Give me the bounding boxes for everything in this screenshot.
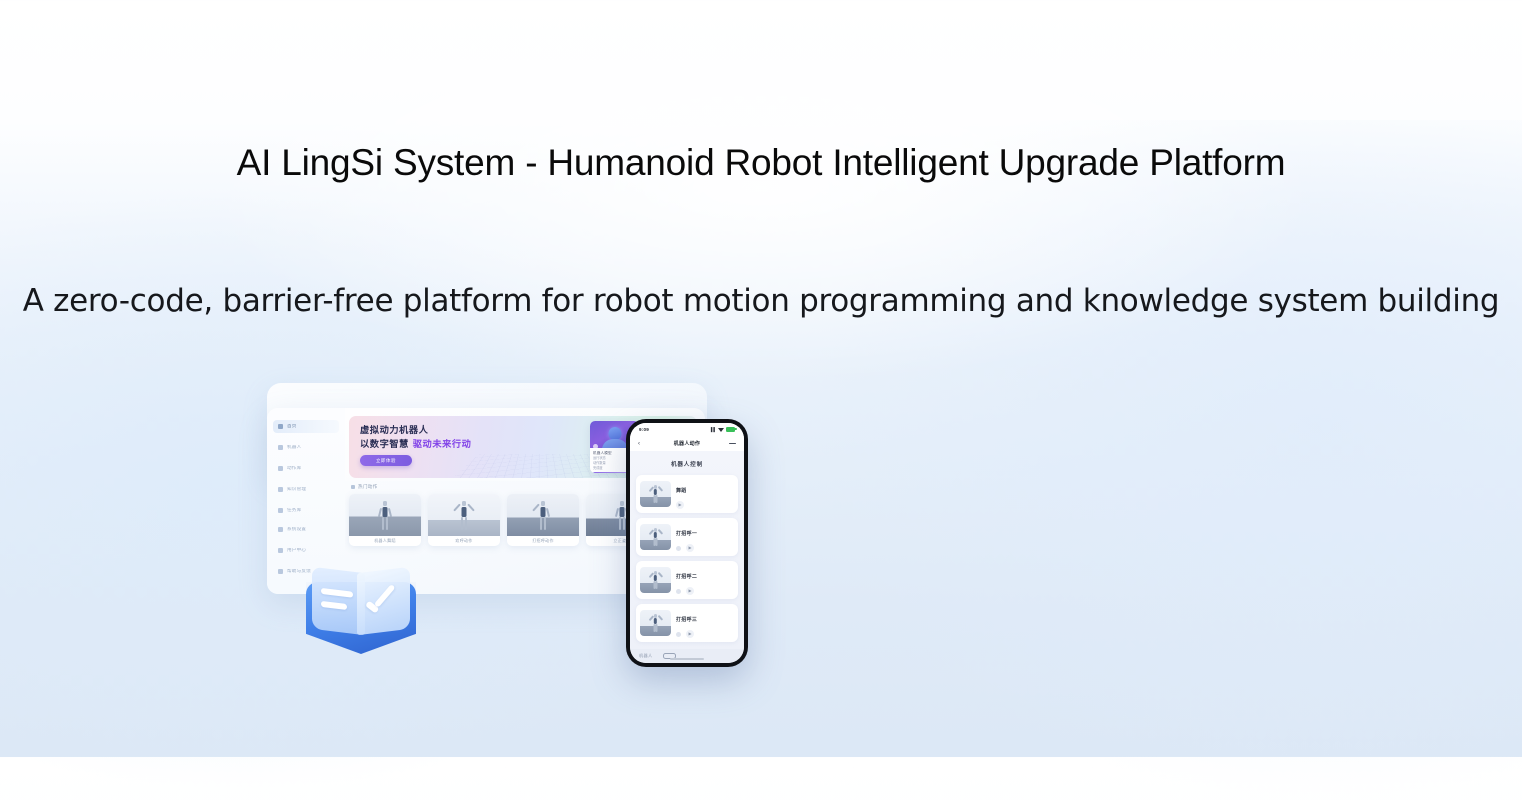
motion-thumbnail bbox=[640, 481, 671, 507]
background-wash-top bbox=[211, 60, 1311, 380]
list-item-main: 打招呼一 ▶ bbox=[676, 522, 734, 552]
play-icon[interactable]: ▶ bbox=[686, 630, 694, 638]
phone-section-title: 机器人控制 bbox=[636, 451, 738, 475]
hero-text-block: 虚拟动力机器人 以数字智慧 驱动未来行动 立即体验 bbox=[360, 425, 471, 466]
phone-status-bar: 9:09 ▌▌ bbox=[630, 423, 744, 436]
sidebar-item-motion-library[interactable]: 动作库 bbox=[273, 462, 339, 475]
sidebar-item-robots[interactable]: 机器人 bbox=[273, 441, 339, 454]
hero-cta-button[interactable]: 立即体验 bbox=[360, 455, 412, 466]
gear-icon bbox=[278, 527, 283, 532]
signal-icon: ▌▌ bbox=[711, 427, 716, 432]
avatar-badge bbox=[593, 444, 598, 448]
play-icon[interactable]: ▶ bbox=[686, 587, 694, 595]
sidebar-item-label: 任务库 bbox=[287, 508, 301, 513]
dot-icon[interactable] bbox=[676, 546, 681, 551]
motion-thumbnail bbox=[640, 610, 671, 636]
list-item-actions: ▶ bbox=[676, 544, 734, 552]
page-subtitle: A zero-code, barrier-free platform for r… bbox=[0, 283, 1522, 319]
phone-page-title: 机器人动作 bbox=[630, 440, 744, 447]
list-item-actions: ▶ bbox=[676, 587, 734, 595]
list-item[interactable]: 舞蹈 ▶ bbox=[636, 475, 738, 513]
robot-figure-icon bbox=[650, 614, 661, 633]
phone-screen: 9:09 ▌▌ ‹ 机器人动作 机器人控制 bbox=[630, 423, 744, 663]
sidebar-item-label: 机器人 bbox=[287, 445, 301, 450]
sidebar-item-label: 动作库 bbox=[287, 466, 301, 471]
sidebar-item-tasks[interactable]: 任务库 bbox=[273, 504, 339, 517]
book-check-icon bbox=[302, 568, 420, 664]
list-item-label: 打招呼一 bbox=[676, 531, 697, 537]
phone-content: 机器人控制 舞蹈 ▶ bbox=[630, 451, 744, 649]
motion-thumbnail bbox=[640, 567, 671, 593]
sidebar-item-knowledge[interactable]: 知识管理 bbox=[273, 483, 339, 496]
product-illustration: 首页 机器人 动作库 知识管理 任务库 系统设置 bbox=[250, 370, 770, 690]
robot-figure-icon bbox=[377, 501, 393, 531]
phone-mockup: 9:09 ▌▌ ‹ 机器人动作 机器人控制 bbox=[626, 419, 748, 667]
help-icon bbox=[278, 569, 283, 574]
list-item-label: 打招呼二 bbox=[676, 574, 697, 580]
hero-subheadline: 以数字智慧 驱动未来行动 bbox=[360, 439, 471, 451]
page-title: AI LingSi System - Humanoid Robot Intell… bbox=[0, 142, 1522, 184]
dot-icon[interactable] bbox=[676, 632, 681, 637]
robot-figure-icon bbox=[650, 528, 661, 547]
list-item-main: 舞蹈 ▶ bbox=[676, 479, 734, 509]
robot-figure-icon bbox=[456, 501, 472, 531]
sidebar-item-label: 首页 bbox=[287, 424, 297, 429]
sidebar-item-settings[interactable]: 系统设置 bbox=[273, 523, 339, 536]
list-item[interactable]: 打招呼三 ▶ bbox=[636, 604, 738, 642]
robot-card-meter-label: 完成度 bbox=[593, 466, 603, 471]
list-item-main: 打招呼二 ▶ bbox=[676, 565, 734, 595]
list-item-label: 舞蹈 bbox=[676, 488, 687, 494]
list-item-main: 打招呼三 ▶ bbox=[676, 608, 734, 638]
list-item-actions: ▶ bbox=[676, 501, 734, 509]
list-item-actions: ▶ bbox=[676, 630, 734, 638]
tab-label[interactable]: 机器人 bbox=[639, 653, 652, 659]
status-bar-time: 9:09 bbox=[639, 427, 649, 432]
section-title: 热门动作 bbox=[358, 484, 378, 490]
text-line-decoration bbox=[321, 588, 353, 598]
play-icon[interactable]: ▶ bbox=[676, 501, 684, 509]
motion-card-caption: 打招呼动作 bbox=[507, 536, 579, 546]
user-icon bbox=[278, 548, 283, 553]
sidebar-item-user-center[interactable]: 用户中心 bbox=[273, 544, 339, 557]
motion-card[interactable]: 机器人舞蹈 bbox=[349, 494, 421, 546]
robot-figure-icon bbox=[650, 485, 661, 504]
section-icon bbox=[351, 485, 355, 489]
motion-card[interactable]: 欢呼动作 bbox=[428, 494, 500, 546]
robot-figure-icon bbox=[535, 501, 551, 531]
sidebar-item-home[interactable]: 首页 bbox=[273, 420, 339, 433]
text-line-decoration bbox=[321, 601, 347, 610]
knowledge-icon bbox=[278, 487, 283, 492]
hero-headline: 虚拟动力机器人 bbox=[360, 425, 471, 437]
check-icon bbox=[367, 588, 397, 610]
phone-tabbar: 机器人 bbox=[630, 649, 744, 663]
phone-navbar: ‹ 机器人动作 bbox=[630, 436, 744, 451]
motion-card-caption: 机器人舞蹈 bbox=[349, 536, 421, 546]
robot-body-icon bbox=[602, 439, 628, 448]
task-icon bbox=[278, 508, 283, 513]
robot-icon bbox=[278, 445, 283, 450]
status-bar-icons: ▌▌ bbox=[711, 427, 735, 432]
motion-card[interactable]: 打招呼动作 bbox=[507, 494, 579, 546]
robot-figure-icon bbox=[650, 571, 661, 590]
play-icon[interactable]: ▶ bbox=[686, 544, 694, 552]
motion-preview bbox=[428, 494, 500, 536]
sidebar-item-label: 系统设置 bbox=[287, 527, 306, 532]
motion-card-caption: 欢呼动作 bbox=[428, 536, 500, 546]
sidebar-item-label: 知识管理 bbox=[287, 487, 306, 492]
desktop-sidebar: 首页 机器人 动作库 知识管理 任务库 系统设置 bbox=[267, 408, 345, 594]
battery-icon bbox=[726, 427, 735, 432]
list-item-label: 打招呼三 bbox=[676, 617, 697, 623]
list-item[interactable]: 打招呼二 ▶ bbox=[636, 561, 738, 599]
dot-icon[interactable] bbox=[676, 589, 681, 594]
motion-thumbnail bbox=[640, 524, 671, 550]
home-icon bbox=[278, 424, 283, 429]
hero-subheadline-accent: 驱动未来行动 bbox=[413, 439, 472, 450]
wifi-icon bbox=[718, 428, 724, 432]
background-wash-right bbox=[782, 120, 1522, 800]
sidebar-item-label: 用户中心 bbox=[287, 548, 306, 553]
hero-subheadline-plain: 以数字智慧 bbox=[360, 439, 409, 450]
motion-preview bbox=[349, 494, 421, 536]
list-item[interactable]: 打招呼一 ▶ bbox=[636, 518, 738, 556]
book-page-right bbox=[357, 567, 410, 636]
motion-preview bbox=[507, 494, 579, 536]
library-icon bbox=[278, 466, 283, 471]
